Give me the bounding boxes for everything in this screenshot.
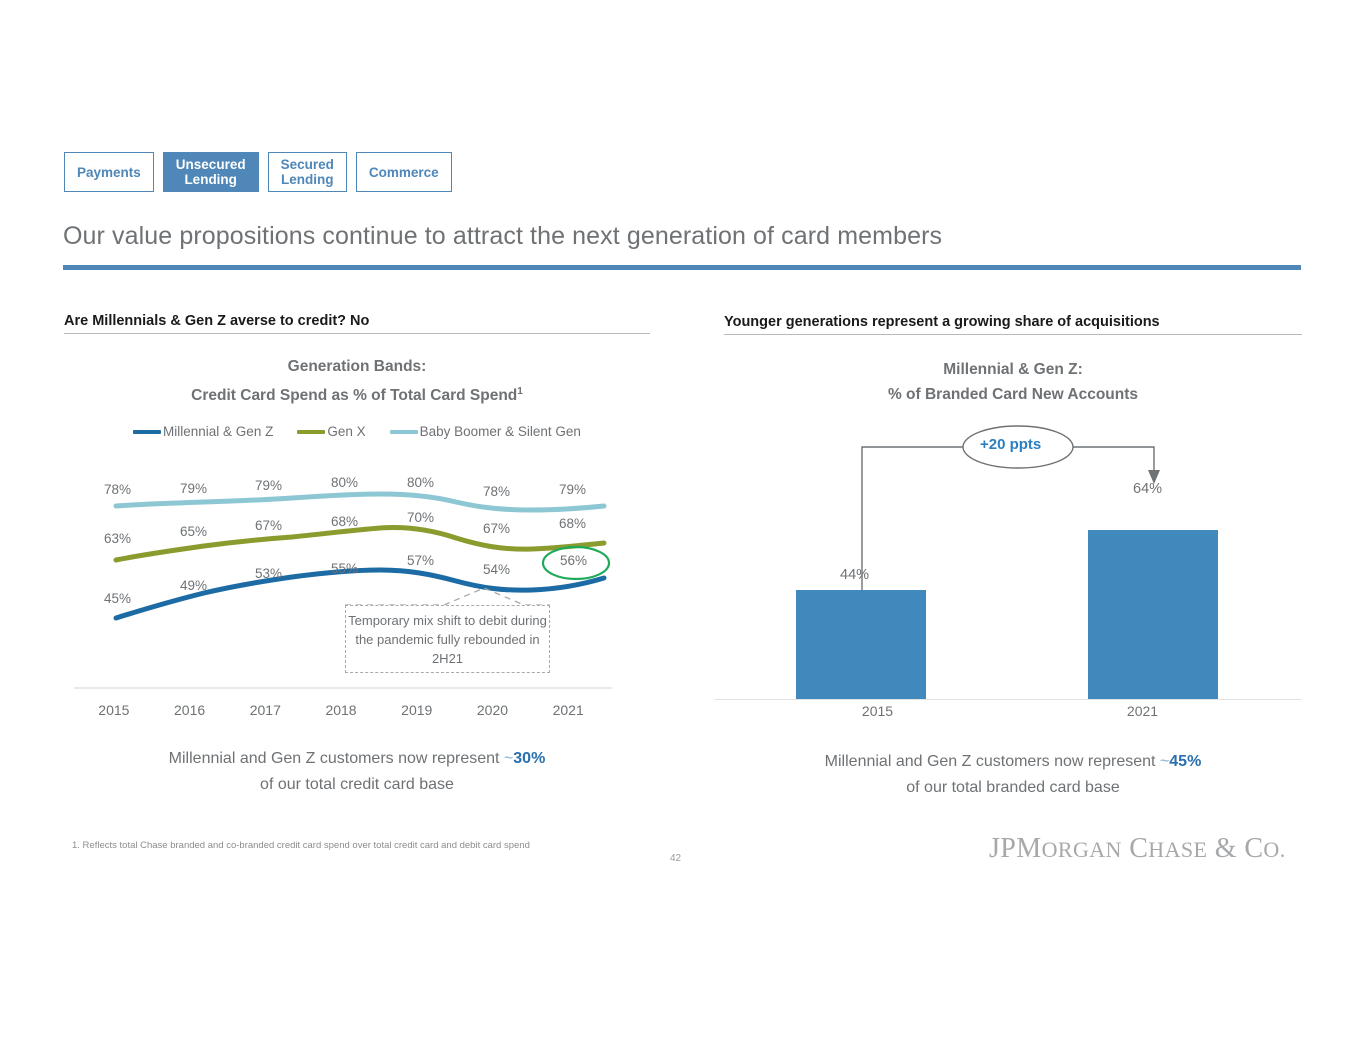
page-title: Our value propositions continue to attra…: [63, 222, 942, 251]
line-x-label-2017: 2017: [227, 702, 303, 718]
logo-part6: O.: [1263, 837, 1285, 862]
line-label-genx-2020: 67%: [483, 521, 510, 536]
line-x-label-2019: 2019: [379, 702, 455, 718]
page-number: 42: [670, 853, 681, 864]
right-footer-line1: Millennial and Gen Z customers now repre…: [724, 749, 1302, 775]
right-chart-footer: Millennial and Gen Z customers now repre…: [724, 749, 1302, 801]
delta-connector-left: [862, 447, 972, 590]
logo-part3: C: [1122, 833, 1148, 864]
line-label-millennial-2019: 57%: [407, 553, 434, 568]
tab-unsecured-lending[interactable]: Unsecured Lending: [163, 152, 259, 192]
left-footer-prefix: Millennial and Gen Z customers now repre…: [169, 750, 504, 767]
line-label-boomer-2019: 80%: [407, 475, 434, 490]
line-label-genx-2018: 68%: [331, 514, 358, 529]
bar-x-label-2021: 2021: [1010, 703, 1275, 719]
logo-part1: JPM: [989, 833, 1042, 864]
line-label-boomer-2015: 78%: [104, 482, 131, 497]
left-footer-tilde: ~: [504, 750, 513, 767]
legend-label-genx: Gen X: [327, 424, 365, 439]
pandemic-callout: Temporary mix shift to debit during the …: [345, 605, 550, 673]
left-panel-header-divider: [64, 333, 650, 335]
line-x-label-2015: 2015: [76, 702, 152, 718]
line-chart-legend: Millennial & Gen Z Gen X Baby Boomer & S…: [64, 424, 650, 439]
bar-x-label-2015: 2015: [745, 703, 1010, 719]
line-label-boomer-2017: 79%: [255, 478, 282, 493]
section-tabs: Payments Unsecured Lending Secured Lendi…: [64, 152, 452, 192]
title-divider: [63, 265, 1301, 270]
left-chart-title-line2-text: Credit Card Spend as % of Total Card Spe…: [191, 387, 517, 404]
line-label-millennial-2015: 45%: [104, 591, 131, 606]
line-label-millennial-2016: 49%: [180, 578, 207, 593]
line-label-genx-2021: 68%: [559, 516, 586, 531]
legend-swatch-millennial-icon: [133, 430, 161, 434]
tab-payments[interactable]: Payments: [64, 152, 154, 192]
bar-chart-x-axis-labels: 2015 2021: [745, 703, 1275, 719]
bar-2015: [796, 590, 926, 700]
bar-2021: [1088, 530, 1218, 700]
legend-label-boomer: Baby Boomer & Silent Gen: [420, 424, 581, 439]
line-label-genx-2015: 63%: [104, 531, 131, 546]
logo-part5: & C: [1207, 833, 1263, 864]
right-chart-title-line2: % of Branded Card New Accounts: [724, 382, 1302, 407]
line-label-boomer-2016: 79%: [180, 481, 207, 496]
line-chart-x-axis-labels: 2015 2016 2017 2018 2019 2020 2021: [76, 702, 606, 718]
left-chart-title-line2: Credit Card Spend as % of Total Card Spe…: [64, 379, 650, 408]
line-label-boomer-2021: 79%: [559, 482, 586, 497]
line-label-millennial-2018: 55%: [331, 561, 358, 576]
left-footer-line2: of our total credit card base: [64, 772, 650, 798]
logo-part4: HASE: [1148, 837, 1207, 862]
left-panel-header-text: Are Millennials & Gen Z averse to credit…: [64, 313, 369, 329]
left-footer-line1: Millennial and Gen Z customers now repre…: [64, 746, 650, 772]
right-footer-pct: 45%: [1169, 753, 1201, 770]
legend-item-millennial: Millennial & Gen Z: [133, 424, 273, 439]
line-label-genx-2017: 67%: [255, 518, 282, 533]
logo-part2: ORGAN: [1042, 837, 1122, 862]
left-chart-title-line1: Generation Bands:: [64, 354, 650, 379]
legend-swatch-boomer-icon: [390, 430, 418, 434]
bar-label-2015: 44%: [840, 567, 869, 583]
slide: Payments Unsecured Lending Secured Lendi…: [0, 0, 1365, 1055]
tab-secured-lending[interactable]: Secured Lending: [268, 152, 347, 192]
right-panel-header: Younger generations represent a growing …: [724, 314, 1302, 335]
right-panel-header-text: Younger generations represent a growing …: [724, 314, 1160, 330]
delta-badge-label: +20 ppts: [980, 436, 1041, 453]
left-panel-header: Are Millennials & Gen Z averse to credit…: [64, 313, 650, 334]
line-label-millennial-2021: 56%: [560, 553, 587, 568]
tab-commerce[interactable]: Commerce: [356, 152, 452, 192]
line-x-label-2021: 2021: [530, 702, 606, 718]
legend-label-millennial: Millennial & Gen Z: [163, 424, 273, 439]
line-label-millennial-2017: 53%: [255, 566, 282, 581]
right-panel-header-divider: [724, 334, 1302, 336]
line-x-label-2018: 2018: [303, 702, 379, 718]
footnote-marker: 1: [517, 386, 523, 397]
line-x-label-2020: 2020: [455, 702, 531, 718]
left-footer-pct: 30%: [513, 750, 545, 767]
right-footer-line2: of our total branded card base: [724, 775, 1302, 801]
line-label-millennial-2020: 54%: [483, 562, 510, 577]
line-label-genx-2019: 70%: [407, 510, 434, 525]
line-label-boomer-2020: 78%: [483, 484, 510, 499]
line-label-genx-2016: 65%: [180, 524, 207, 539]
bar-label-2021: 64%: [1133, 481, 1162, 497]
jpmorgan-chase-logo: JPMORGAN CHASE & CO.: [989, 833, 1286, 865]
line-x-label-2016: 2016: [152, 702, 228, 718]
line-label-boomer-2018: 80%: [331, 475, 358, 490]
right-chart-title: Millennial & Gen Z: % of Branded Card Ne…: [724, 357, 1302, 407]
left-chart-title: Generation Bands: Credit Card Spend as %…: [64, 354, 650, 408]
line-series-boomer: [116, 494, 604, 510]
legend-item-genx: Gen X: [297, 424, 365, 439]
delta-connector-right: [1064, 447, 1154, 472]
legend-swatch-genx-icon: [297, 430, 325, 434]
bar-chart: [714, 420, 1302, 700]
right-chart-title-line1: Millennial & Gen Z:: [724, 357, 1302, 382]
left-chart-footer: Millennial and Gen Z customers now repre…: [64, 746, 650, 798]
footnote: 1. Reflects total Chase branded and co-b…: [72, 840, 530, 851]
right-footer-prefix: Millennial and Gen Z customers now repre…: [825, 753, 1160, 770]
legend-item-boomer: Baby Boomer & Silent Gen: [390, 424, 581, 439]
right-footer-tilde: ~: [1160, 753, 1169, 770]
